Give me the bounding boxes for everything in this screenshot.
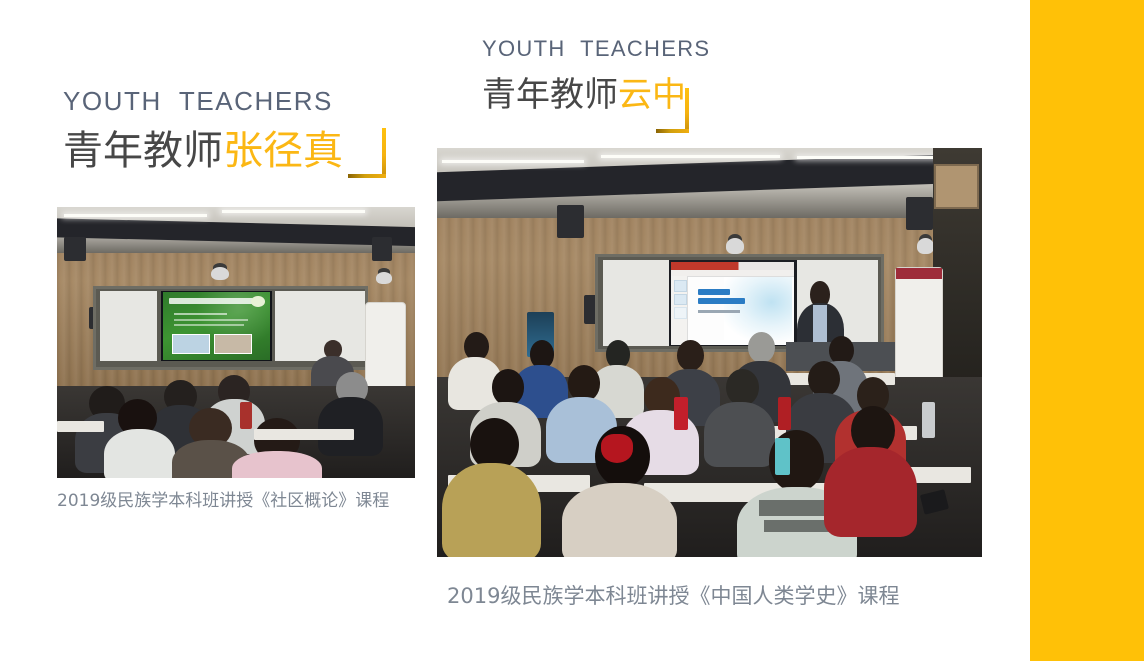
desk: [254, 429, 354, 440]
teacher-2-headline-prefix: 青年教师: [482, 75, 618, 115]
teacher-1-caption: 2019级民族学本科班讲授《社区概论》课程: [57, 493, 389, 510]
camera-icon: [726, 238, 745, 254]
light-tube: [64, 214, 207, 217]
hoodie-print-bottom: [764, 520, 829, 532]
student-body: [562, 483, 676, 557]
camera-icon: [211, 267, 229, 281]
whiteboard-right: [275, 291, 365, 361]
whiteboard-left: [100, 291, 157, 361]
wall-speaker: [557, 205, 584, 238]
slide-content: [163, 292, 270, 360]
student-head: [726, 369, 759, 406]
thermos-bottle: [778, 397, 791, 430]
bracket-horizontal-stroke: [656, 129, 689, 133]
thermos-bottle: [922, 402, 935, 439]
classroom-scene-2: [437, 148, 982, 557]
bracket-horizontal-stroke: [348, 174, 386, 178]
light-tube: [601, 155, 781, 158]
teacher-2-eyebrow: YOUTH TEACHERS: [482, 38, 710, 60]
student-body: [704, 402, 775, 467]
corner-bracket-icon-1: [348, 128, 386, 178]
wall-speaker: [64, 237, 85, 261]
student-body: [318, 397, 382, 457]
thermos-bottle: [674, 397, 688, 430]
teacher-1-headline-prefix: 青年教师: [63, 128, 223, 174]
teacher-1-eyebrow: YOUTH TEACHERS: [63, 88, 343, 114]
teacher-2-caption: 2019级民族学本科班讲授《中国人类学史》课程: [447, 586, 899, 607]
projector-screen-2: [669, 260, 797, 346]
camera-icon: [376, 272, 392, 284]
thermos-bottle: [775, 438, 790, 475]
projector-screen-1: [161, 291, 272, 361]
teacher-2-photo: [437, 148, 982, 557]
student-body: [824, 447, 917, 537]
bracket-vertical-stroke: [382, 128, 386, 178]
bracket-vertical-stroke: [685, 88, 689, 133]
teacher-1-headline: 青年教师张径真: [63, 131, 343, 171]
red-hair-ribbon: [601, 434, 634, 463]
student-head: [677, 340, 704, 371]
thermos-bottle: [240, 402, 253, 429]
corner-bracket-icon-2: [656, 88, 689, 133]
window-frame: [934, 164, 979, 209]
teacher-1-headline-name: 张径真: [223, 128, 343, 174]
wall-speaker: [372, 237, 392, 261]
student-head: [492, 369, 525, 406]
whiteboard-left: [603, 260, 668, 346]
camera-icon: [917, 238, 934, 254]
light-tube: [442, 160, 584, 163]
desk: [57, 421, 104, 432]
student-body: [104, 429, 176, 478]
student-body: [232, 451, 322, 478]
classroom-scene-1: [57, 207, 415, 478]
slide-content: [671, 262, 794, 344]
yellow-accent-bar: [1030, 0, 1144, 661]
slide-canvas: YOUTH TEACHERS 青年教师张径真: [0, 0, 1144, 661]
student-head: [748, 332, 775, 363]
teacher-1-title-block: YOUTH TEACHERS 青年教师张径真: [63, 88, 343, 171]
teacher-1-photo: [57, 207, 415, 478]
wall-speaker: [906, 197, 933, 230]
student-head: [568, 365, 601, 402]
light-tube: [222, 210, 365, 213]
student-body: [442, 463, 540, 557]
